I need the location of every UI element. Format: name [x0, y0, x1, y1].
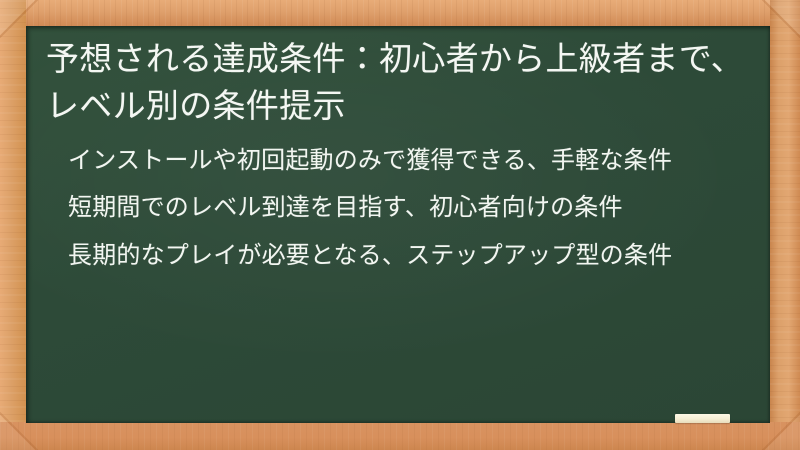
- chalkboard-surface: 予想される達成条件：初心者から上級者まで、レベル別の条件提示 インストールや初回…: [26, 26, 770, 423]
- chalk-stick-icon: [675, 414, 730, 423]
- frame-top-rail: [0, 0, 800, 26]
- condition-list: インストールや初回起動のみで獲得できる、手軽な条件 短期間でのレベル到達を目指す…: [42, 144, 754, 273]
- chalkboard-content: 予想される達成条件：初心者から上級者まで、レベル別の条件提示 インストールや初回…: [26, 26, 770, 423]
- chalkboard-slide: 予想される達成条件：初心者から上級者まで、レベル別の条件提示 インストールや初回…: [0, 0, 800, 450]
- list-item: 長期的なプレイが必要となる、ステップアップ型の条件: [68, 239, 740, 273]
- frame-bottom-ledge: [0, 422, 800, 450]
- frame-left-rail: [0, 0, 26, 450]
- list-item: 短期間でのレベル到達を目指す、初心者向けの条件: [68, 191, 740, 225]
- frame-right-rail: [770, 0, 800, 450]
- slide-title: 予想される達成条件：初心者から上級者まで、レベル別の条件提示: [42, 32, 754, 130]
- list-item: インストールや初回起動のみで獲得できる、手軽な条件: [68, 144, 740, 178]
